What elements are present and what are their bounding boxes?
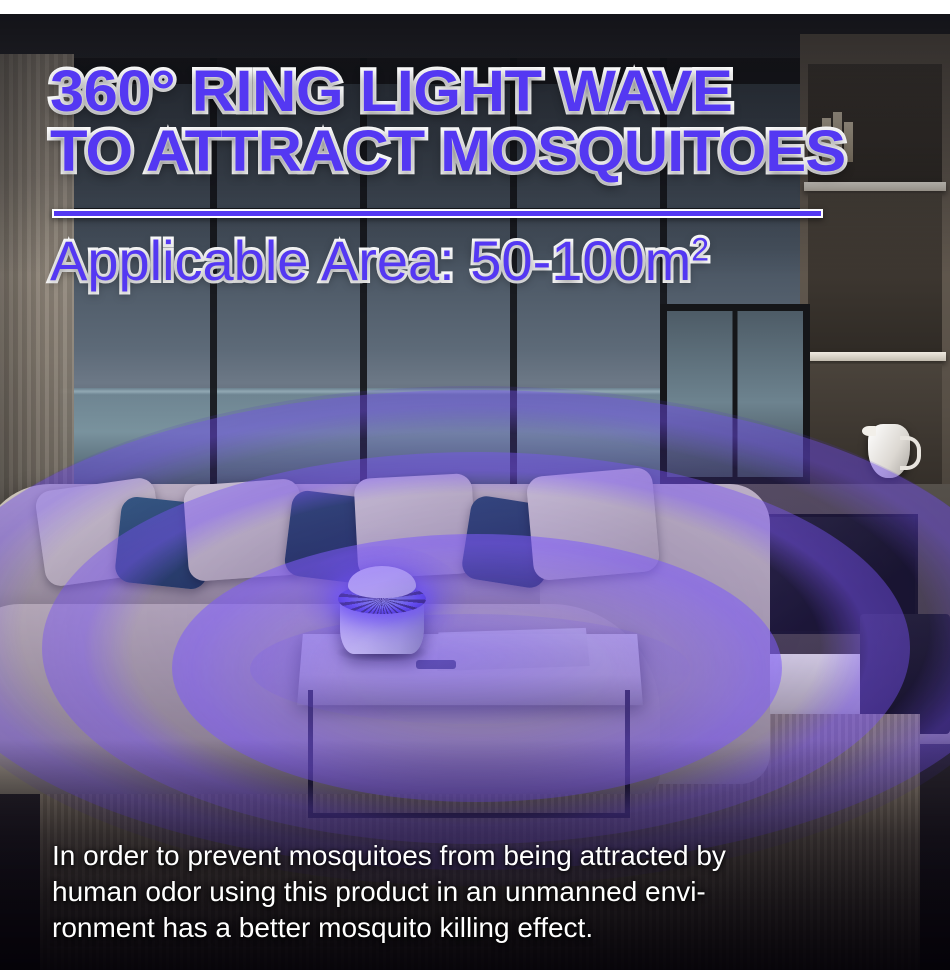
headline-line-2: TO ATTRACT MOSQUITOES bbox=[50, 122, 950, 182]
title-divider-bar bbox=[52, 209, 823, 218]
usage-note-caption: In order to prevent mosquitoes from bein… bbox=[52, 838, 912, 946]
page-title: 360° RING LIGHT WAVE TO ATTRACT MOSQUITO… bbox=[50, 62, 950, 182]
subtitle-text: Applicable Area: 50-100m bbox=[50, 229, 691, 292]
top-white-strip bbox=[0, 0, 950, 14]
subtitle-superscript: 2 bbox=[691, 231, 709, 267]
headline-line-1: 360° RING LIGHT WAVE bbox=[50, 62, 950, 122]
caption-line-1: In order to prevent mosquitoes from bein… bbox=[52, 838, 912, 874]
text-overlay: 360° RING LIGHT WAVE TO ATTRACT MOSQUITO… bbox=[0, 0, 950, 970]
applicable-area-subtitle: Applicable Area: 50-100m2 bbox=[50, 230, 709, 292]
caption-line-2: human odor using this product in an unma… bbox=[52, 874, 912, 910]
caption-line-3: ronment has a better mosquito killing ef… bbox=[52, 910, 912, 946]
product-marketing-poster: 360° RING LIGHT WAVE TO ATTRACT MOSQUITO… bbox=[0, 0, 950, 970]
